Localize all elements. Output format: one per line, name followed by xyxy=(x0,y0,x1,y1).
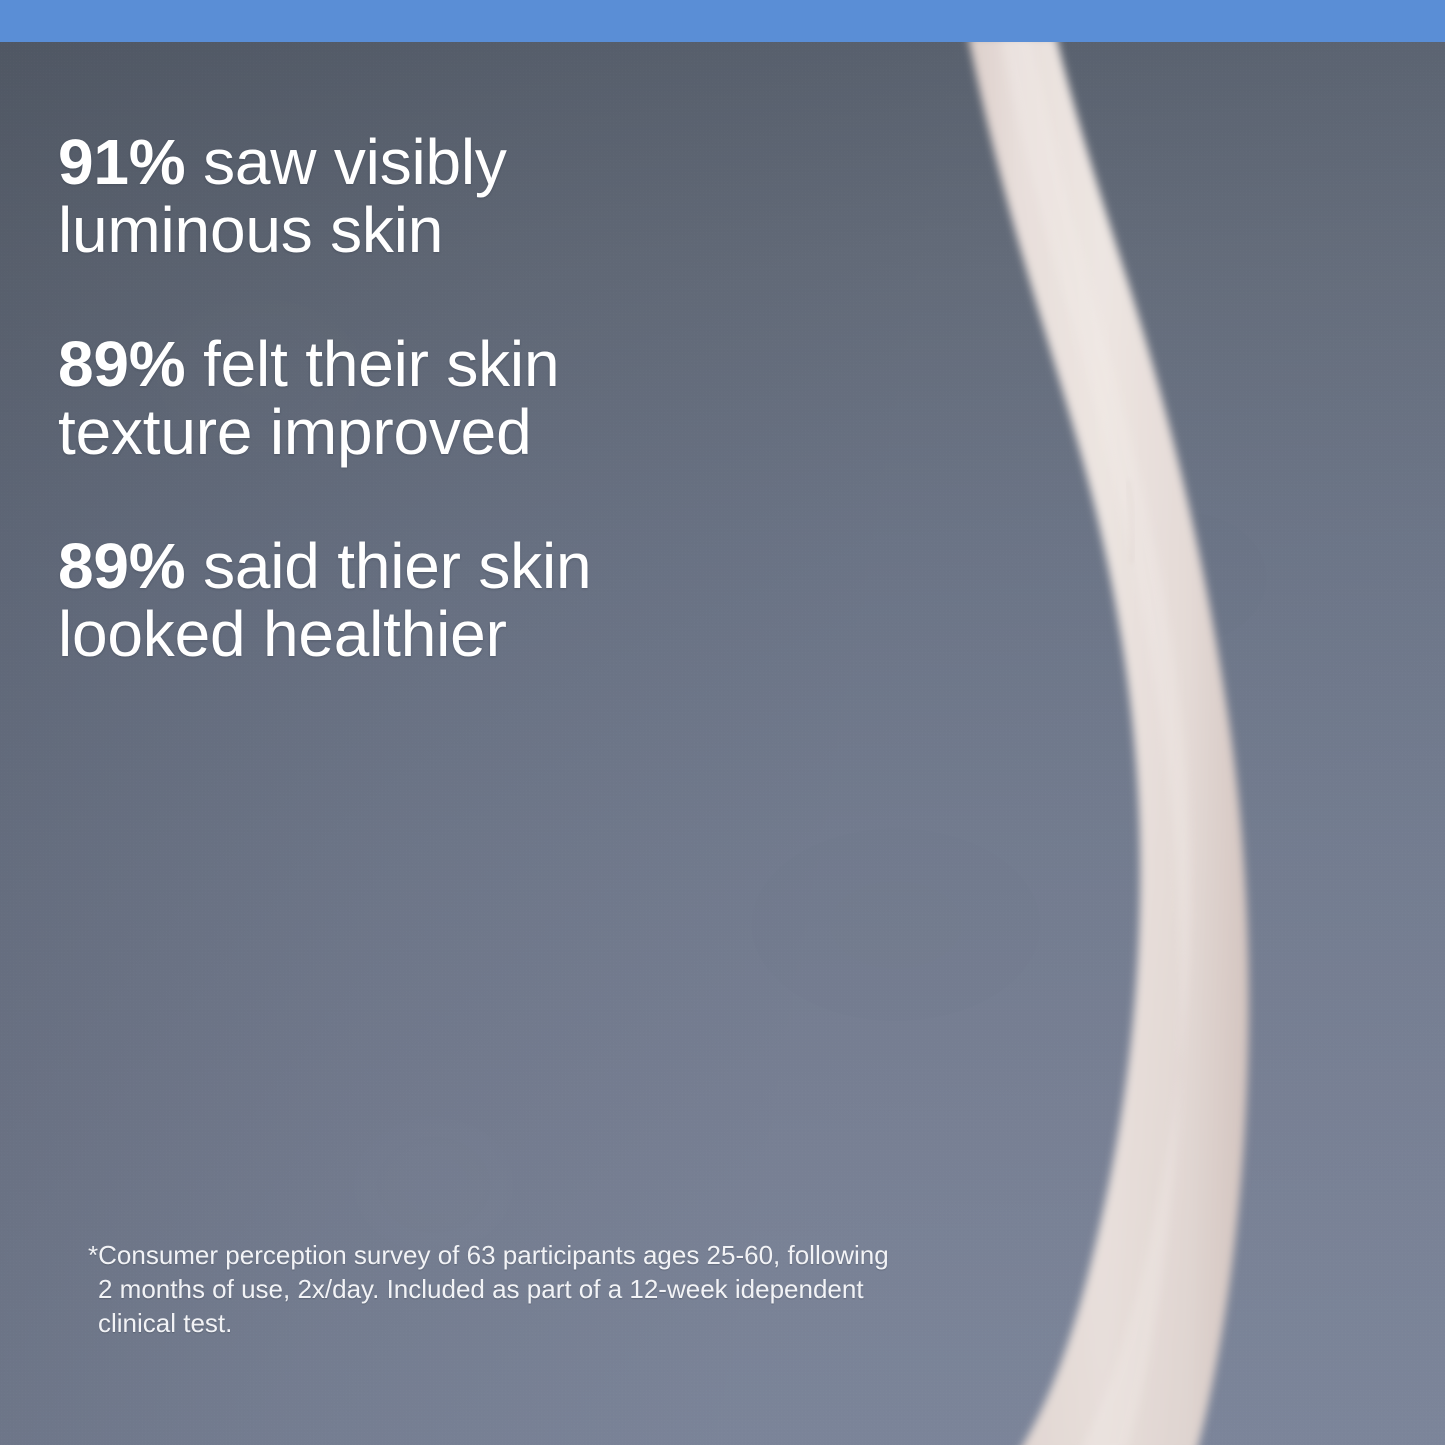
claim-percent: 91% xyxy=(58,126,186,198)
claim-percent: 89% xyxy=(58,328,186,400)
product-claims-panel: 91% saw visibly luminous skin 89% felt t… xyxy=(0,0,1445,1445)
claim-item: 89% felt their skin texture improved xyxy=(58,330,758,466)
claims-list: 91% saw visibly luminous skin 89% felt t… xyxy=(58,128,758,668)
claim-item: 89% said thier skin looked healthier xyxy=(58,532,758,668)
footnote-disclaimer: *Consumer perception survey of 63 partic… xyxy=(88,1238,898,1340)
claim-percent: 89% xyxy=(58,530,186,602)
top-accent-bar xyxy=(0,0,1445,42)
claim-item: 91% saw visibly luminous skin xyxy=(58,128,758,264)
